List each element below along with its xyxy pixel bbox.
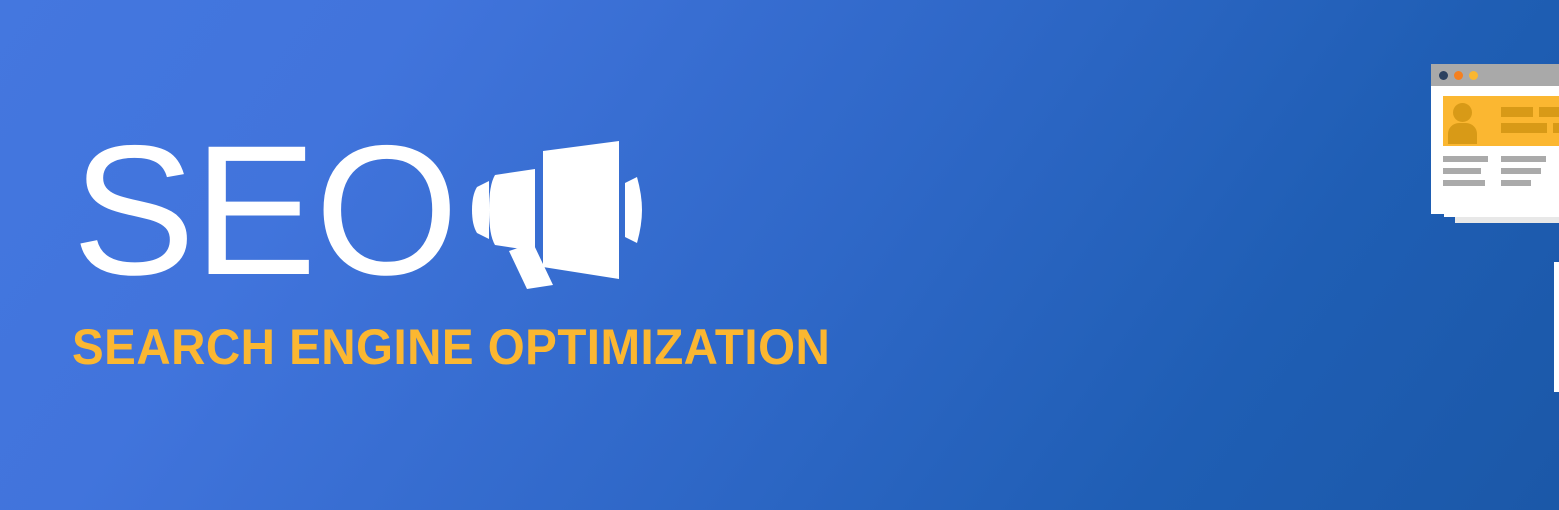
hero-text-bar — [1553, 123, 1559, 133]
hero-text-bar — [1501, 123, 1547, 133]
avatar-head-icon — [1453, 103, 1472, 122]
browser-window-mockup — [1431, 64, 1559, 214]
page-title: SEO — [72, 136, 457, 286]
browser-hero-banner — [1443, 96, 1559, 146]
analytics-document-icon — [1550, 236, 1559, 401]
content-line — [1501, 180, 1531, 186]
seo-illustration: HTML:// — [700, 0, 1559, 510]
content-line — [1443, 156, 1488, 162]
hero-text-bar — [1539, 107, 1559, 117]
megaphone-icon — [469, 139, 644, 289]
page-subtitle: SEARCH ENGINE OPTIMIZATION — [72, 321, 775, 373]
content-line — [1501, 168, 1541, 174]
window-dot-yellow-icon — [1469, 71, 1478, 80]
content-line — [1501, 156, 1546, 162]
hero-text-bar — [1501, 107, 1533, 117]
content-line — [1443, 168, 1481, 174]
avatar-body-icon — [1448, 123, 1477, 144]
browser-title-bar — [1431, 64, 1559, 86]
content-line — [1443, 180, 1485, 186]
seo-banner: SEO SEARCH ENGINE OPTIMIZATION — [0, 0, 1559, 510]
window-dot-dark-icon — [1439, 71, 1448, 80]
window-dot-orange-icon — [1454, 71, 1463, 80]
